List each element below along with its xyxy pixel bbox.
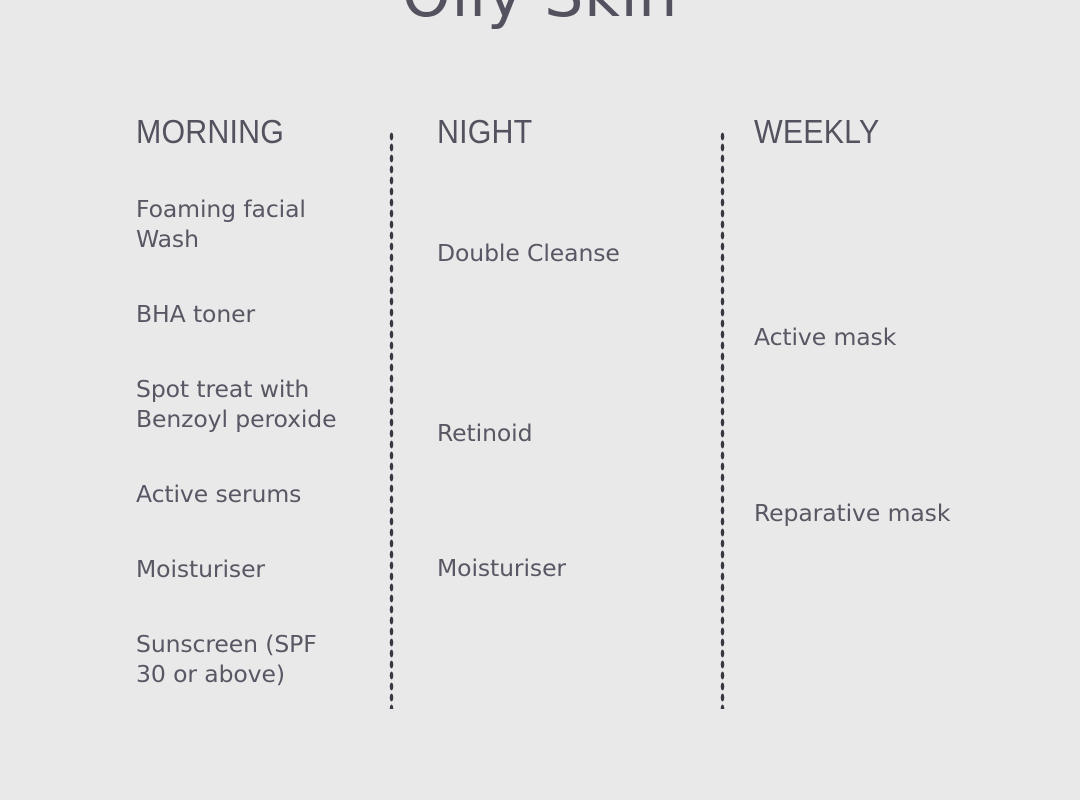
- divider-morning-night: [389, 131, 394, 709]
- list-item: Moisturiser: [437, 553, 566, 583]
- column-header-night: NIGHT: [437, 113, 532, 151]
- column-weekly: WEEKLY Active mask Reparative mask: [754, 0, 1054, 800]
- list-item: Retinoid: [437, 418, 532, 448]
- list-item: Active mask: [754, 322, 896, 352]
- list-item: BHA toner: [136, 299, 255, 329]
- list-item: Sunscreen (SPF 30 or above): [136, 629, 351, 689]
- column-header-morning: MORNING: [136, 113, 284, 151]
- column-header-weekly: WEEKLY: [754, 113, 879, 151]
- column-night: NIGHT Double Cleanse Retinoid Moisturise…: [437, 0, 702, 800]
- list-item: Foaming facial Wash: [136, 194, 351, 254]
- list-item: Active serums: [136, 479, 301, 509]
- list-item: Reparative mask: [754, 498, 950, 528]
- list-item: Spot treat with Benzoyl peroxide: [136, 374, 371, 434]
- divider-night-weekly: [720, 131, 725, 709]
- skincare-routine-infographic: Oily Skin MORNING Foaming facial Wash BH…: [0, 0, 1080, 800]
- list-item: Moisturiser: [136, 554, 265, 584]
- list-item: Double Cleanse: [437, 238, 620, 268]
- column-morning: MORNING Foaming facial Wash BHA toner Sp…: [136, 0, 376, 800]
